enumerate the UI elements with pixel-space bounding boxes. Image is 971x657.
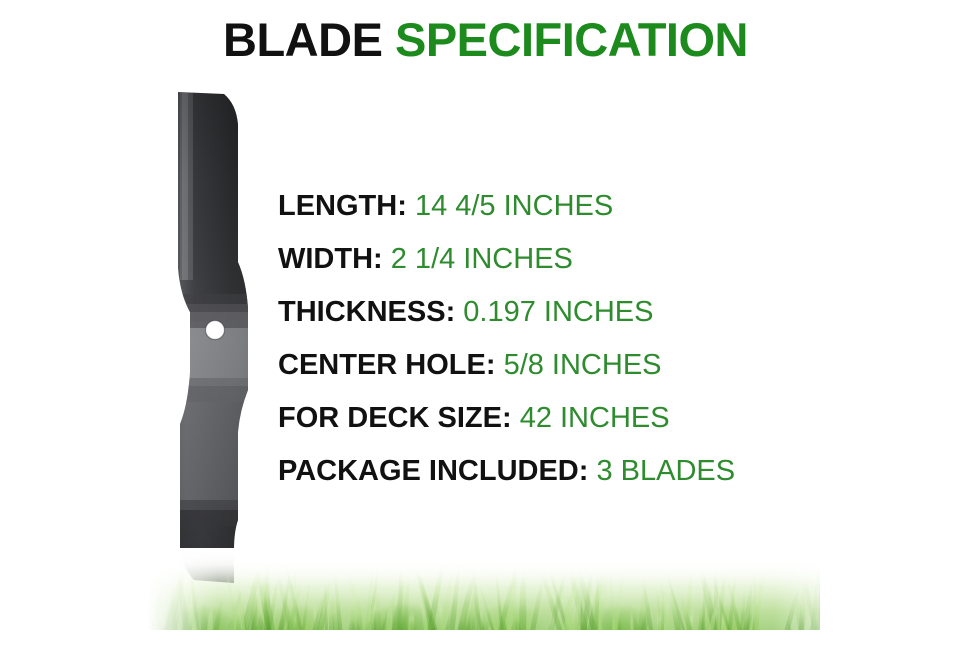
grass-blade xyxy=(235,599,240,630)
bottom-white-strip xyxy=(0,630,971,657)
spec-label-thickness: THICKNESS: xyxy=(278,296,455,328)
spec-row-package-included: PACKAGE INCLUDED: 3 BLADES xyxy=(278,445,898,498)
spec-label-length: LENGTH: xyxy=(278,190,407,222)
lawn-mower-blade-image xyxy=(150,80,280,600)
grass-blade xyxy=(661,586,665,630)
page-title: BLADE SPECIFICATION xyxy=(0,14,971,66)
spec-value-package-included: 3 BLADES xyxy=(596,455,735,487)
spec-value-center-hole: 5/8 INCHES xyxy=(504,349,662,381)
spec-row-width: WIDTH: 2 1/4 INCHES xyxy=(278,233,898,286)
spec-label-center-hole: CENTER HOLE: xyxy=(278,349,496,381)
specification-list: LENGTH: 14 4/5 INCHES WIDTH: 2 1/4 INCHE… xyxy=(278,180,898,498)
spec-value-length: 14 4/5 INCHES xyxy=(415,190,613,222)
specification-card: BLADE SPECIFICATION xyxy=(0,0,971,657)
grass-decoration-band xyxy=(148,548,820,630)
spec-row-center-hole: CENTER HOLE: 5/8 INCHES xyxy=(278,339,898,392)
title-word-specification: SPECIFICATION xyxy=(395,13,748,66)
spec-value-deck-size: 42 INCHES xyxy=(520,402,670,434)
spec-row-length: LENGTH: 14 4/5 INCHES xyxy=(278,180,898,233)
spec-value-thickness: 0.197 INCHES xyxy=(463,296,653,328)
blade-body xyxy=(150,80,280,606)
spec-label-package-included: PACKAGE INCLUDED: xyxy=(278,455,588,487)
title-word-blade: BLADE xyxy=(223,13,382,66)
spec-row-thickness: THICKNESS: 0.197 INCHES xyxy=(278,286,898,339)
spec-label-deck-size: FOR DECK SIZE: xyxy=(278,402,512,434)
title-space xyxy=(382,13,395,66)
spec-row-deck-size: FOR DECK SIZE: 42 INCHES xyxy=(278,392,898,445)
spec-value-width: 2 1/4 INCHES xyxy=(391,243,573,275)
spec-label-width: WIDTH: xyxy=(278,243,383,275)
